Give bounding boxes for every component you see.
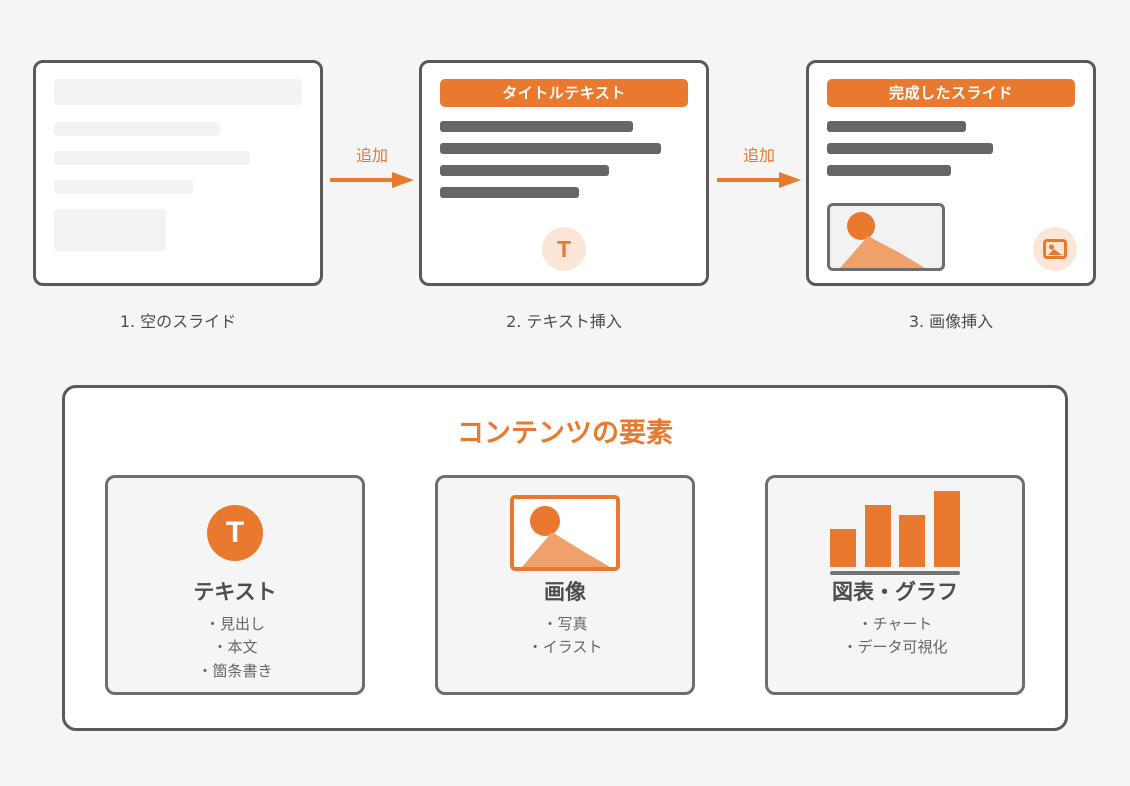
flow-step-3-caption: 3. 画像挿入 <box>806 308 1096 332</box>
content-card-chart-title: 図表・グラフ <box>832 576 958 606</box>
image-frame-icon <box>510 492 620 574</box>
text-bar-2 <box>827 143 993 154</box>
flow-step-1-caption: 1. 空のスライド <box>33 308 323 332</box>
bar-3 <box>899 515 925 567</box>
content-elements-panel: コンテンツの要素 T テキスト ・見出し ・本文 ・箇条書き 画像 <box>62 385 1068 731</box>
content-card-chart-item-1: ・チャート <box>858 613 933 636</box>
picture-icon <box>1043 239 1067 259</box>
bar-2 <box>865 505 891 567</box>
content-card-text-title: テキスト <box>193 576 276 606</box>
slide-title-bar: タイトルテキスト <box>440 79 688 107</box>
picture-badge-icon <box>1033 227 1077 271</box>
bar-chart-graphic <box>830 491 960 575</box>
flow-arrow-1: 追加 <box>330 142 414 192</box>
content-card-image-item-1: ・写真 <box>542 613 587 636</box>
content-cards: T テキスト ・見出し ・本文 ・箇条書き 画像 ・写真 ・イラスト <box>65 475 1065 695</box>
content-card-chart[interactable]: 図表・グラフ ・チャート ・データ可視化 <box>765 475 1025 695</box>
image-frame-art <box>514 499 616 567</box>
text-circle-letter: T <box>207 505 263 561</box>
content-card-image-title: 画像 <box>544 576 586 606</box>
image-frame <box>510 495 620 571</box>
content-card-text-item-1: ・見出し <box>205 613 265 636</box>
arrow-right-icon <box>717 172 801 188</box>
flow-step-2: タイトルテキスト T 2. テキスト挿入 <box>419 60 709 332</box>
text-bar-1 <box>440 121 633 132</box>
flow-step-2-caption: 2. テキスト挿入 <box>419 308 709 332</box>
slide-completed[interactable]: 完成したスライド <box>806 60 1096 286</box>
bar-chart-baseline <box>830 571 960 575</box>
slide-title-bar: 完成したスライド <box>827 79 1075 107</box>
content-card-text-item-3: ・箇条書き <box>197 660 272 683</box>
text-badge-letter: T <box>557 236 571 263</box>
slide-empty[interactable] <box>33 60 323 286</box>
slide-flow: 1. 空のスライド 追加 タイトルテキスト T 2. テキスト挿入 追加 <box>0 60 1130 335</box>
content-card-text[interactable]: T テキスト ・見出し ・本文 ・箇条書き <box>105 475 365 695</box>
slide-with-text[interactable]: タイトルテキスト T <box>419 60 709 286</box>
placeholder-title-block <box>54 79 302 105</box>
flow-step-1: 1. 空のスライド <box>33 60 323 332</box>
text-bar-3 <box>440 165 609 176</box>
placeholder-box <box>54 209 166 251</box>
placeholder-line-2 <box>54 151 250 165</box>
content-card-image[interactable]: 画像 ・写真 ・イラスト <box>435 475 695 695</box>
content-card-chart-item-2: ・データ可視化 <box>842 636 947 659</box>
placeholder-line-3 <box>54 180 193 194</box>
bar-1 <box>830 529 856 567</box>
flow-step-3: 完成したスライド 3. 画像挿入 <box>806 60 1096 332</box>
text-circle-icon: T <box>207 492 263 574</box>
text-bar-3 <box>827 165 951 176</box>
content-card-image-item-2: ・イラスト <box>528 636 603 659</box>
image-thumbnail-icon <box>827 203 945 271</box>
content-card-text-item-2: ・本文 <box>212 636 257 659</box>
text-badge-icon: T <box>542 227 586 271</box>
text-bar-1 <box>827 121 966 132</box>
flow-arrow-1-label: 追加 <box>330 142 414 166</box>
thumbnail-art <box>830 206 942 268</box>
placeholder-line-1 <box>54 122 220 136</box>
flow-arrow-2: 追加 <box>717 142 801 192</box>
bar-4 <box>934 491 960 567</box>
flow-arrow-2-label: 追加 <box>717 142 801 166</box>
text-bar-2 <box>440 143 661 154</box>
bar-chart-bars <box>830 491 960 567</box>
bar-chart-icon <box>830 492 960 574</box>
text-bar-4 <box>440 187 579 198</box>
panel-title: コンテンツの要素 <box>65 411 1065 450</box>
arrow-right-icon <box>330 172 414 188</box>
